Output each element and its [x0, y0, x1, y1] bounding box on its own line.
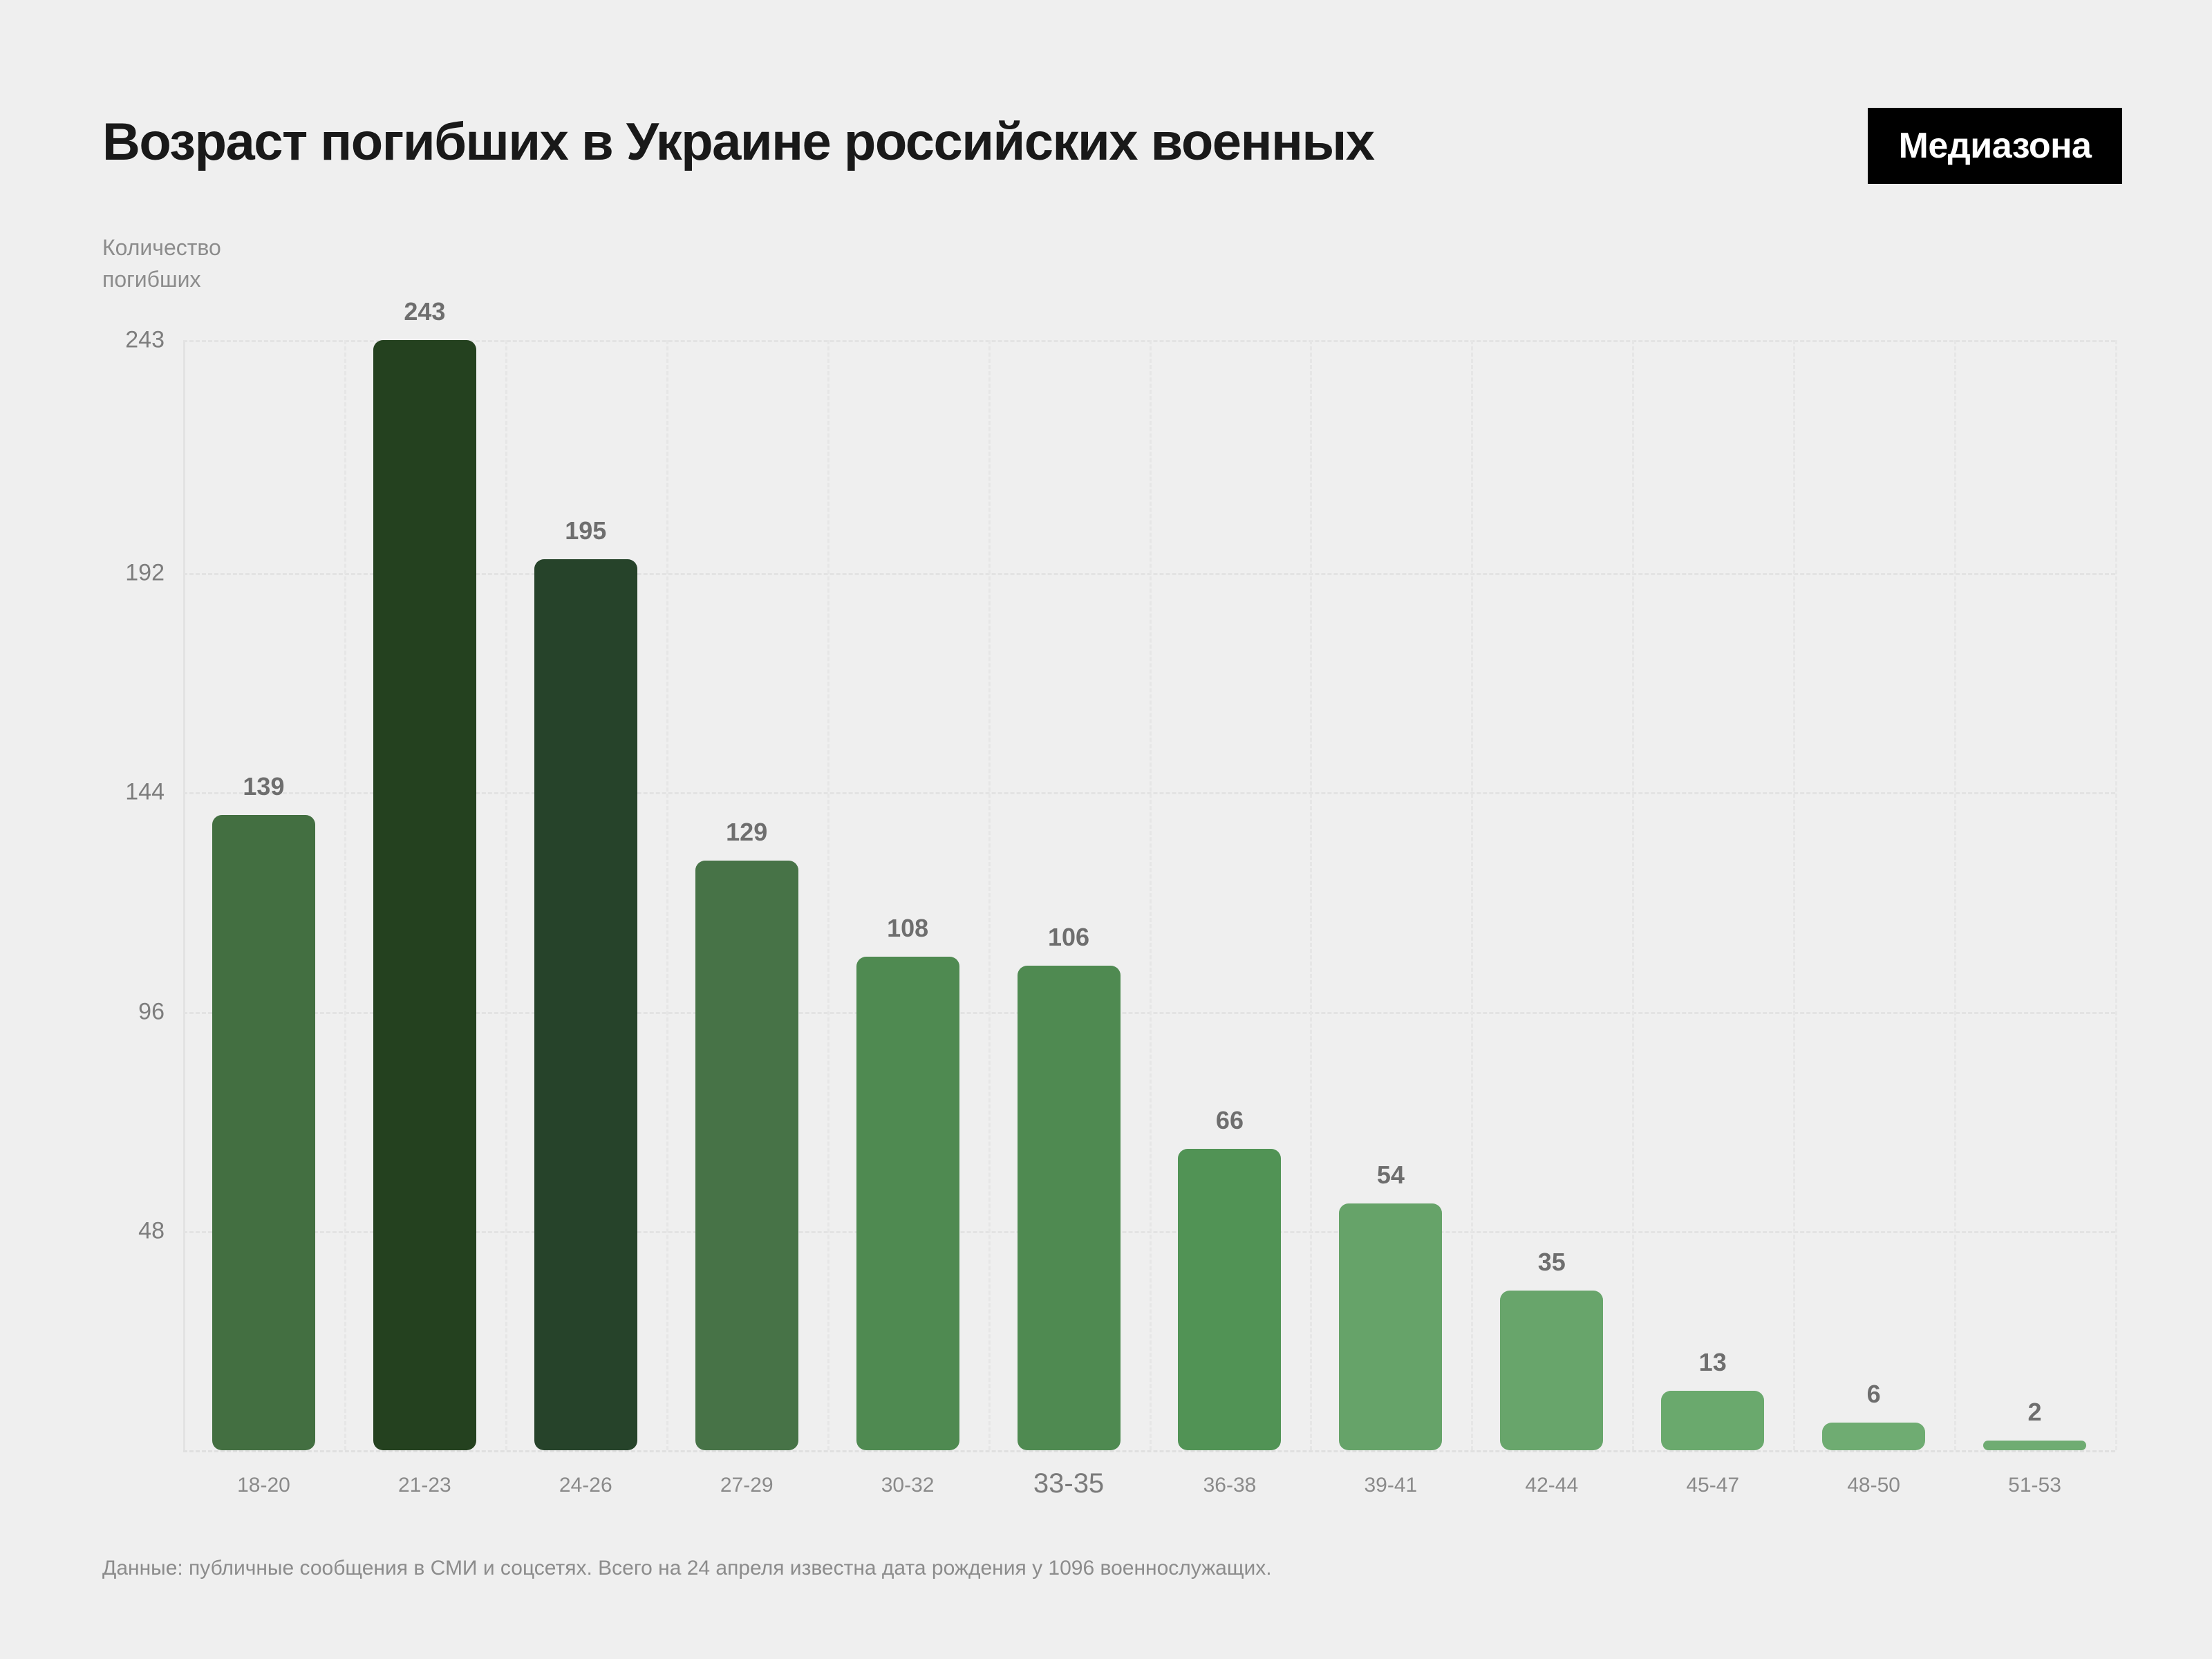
bar-group[interactable]: 66: [1178, 340, 1281, 1450]
bar-group[interactable]: 2: [1983, 340, 2086, 1450]
x-axis-category-label[interactable]: 24-26: [505, 1474, 666, 1497]
y-axis-ticks: 2431921449648: [0, 0, 165, 1659]
y-axis-line: [183, 340, 185, 1450]
bar-group[interactable]: 6: [1822, 340, 1925, 1450]
bar[interactable]: [1983, 1441, 2086, 1450]
bar[interactable]: [856, 957, 959, 1450]
x-axis-category-label[interactable]: 51-53: [1954, 1474, 2115, 1497]
bar[interactable]: [1018, 966, 1121, 1450]
bar-chart-plot: 2431921449648 13924319512910810666543513…: [0, 0, 2212, 1659]
x-axis-baseline: [183, 1450, 2115, 1452]
y-axis-tick-label: 96: [26, 998, 165, 1025]
bar[interactable]: [373, 340, 476, 1450]
bar[interactable]: [695, 861, 798, 1450]
y-axis-tick-label: 192: [26, 560, 165, 587]
bar[interactable]: [1178, 1149, 1281, 1450]
bar-group[interactable]: 106: [1018, 340, 1121, 1450]
x-axis-category-label[interactable]: 39-41: [1310, 1474, 1471, 1497]
bar-value-label: 139: [212, 772, 315, 801]
bar-value-label: 13: [1661, 1348, 1764, 1377]
x-axis-category-label[interactable]: 18-20: [183, 1474, 344, 1497]
vertical-gridline: [1954, 340, 1956, 1450]
vertical-gridline: [666, 340, 668, 1450]
chart-page: Возраст погибших в Украине российских во…: [0, 0, 2212, 1659]
bar-group[interactable]: 195: [534, 340, 637, 1450]
bar-value-label: 66: [1178, 1106, 1281, 1135]
x-axis-category-label[interactable]: 21-23: [344, 1474, 505, 1497]
source-note: Данные: публичные сообщения в СМИ и соцс…: [102, 1557, 1272, 1580]
x-axis-category-label[interactable]: 45-47: [1632, 1474, 1793, 1497]
bar-group[interactable]: 108: [856, 340, 959, 1450]
bar-group[interactable]: 139: [212, 340, 315, 1450]
bar[interactable]: [1500, 1291, 1603, 1450]
vertical-gridline: [505, 340, 507, 1450]
bar-value-label: 108: [856, 914, 959, 943]
bar[interactable]: [212, 815, 315, 1450]
bar-value-label: 106: [1018, 923, 1121, 952]
y-axis-tick-label: 144: [26, 779, 165, 806]
vertical-gridline: [1310, 340, 1312, 1450]
x-axis-category-label[interactable]: 48-50: [1793, 1474, 1954, 1497]
x-axis-category-label[interactable]: 33-35: [988, 1468, 1150, 1499]
bar-value-label: 35: [1500, 1248, 1603, 1277]
bar-group[interactable]: 35: [1500, 340, 1603, 1450]
bar-value-label: 2: [1983, 1398, 2086, 1427]
y-axis-tick-label: 48: [26, 1217, 165, 1244]
bar-group[interactable]: 54: [1339, 340, 1442, 1450]
x-axis-category-label[interactable]: 30-32: [827, 1474, 988, 1497]
vertical-gridline: [1471, 340, 1473, 1450]
x-axis-category-label[interactable]: 27-29: [666, 1474, 827, 1497]
bar-value-label: 54: [1339, 1161, 1442, 1190]
vertical-gridline: [1632, 340, 1634, 1450]
vertical-gridline: [1150, 340, 1152, 1450]
vertical-gridline: [827, 340, 829, 1450]
bar-value-label: 6: [1822, 1380, 1925, 1409]
vertical-gridline: [1793, 340, 1795, 1450]
vertical-gridline: [2115, 340, 2117, 1450]
bar[interactable]: [1661, 1391, 1764, 1450]
bar-group[interactable]: 13: [1661, 340, 1764, 1450]
x-axis-category-label[interactable]: 36-38: [1150, 1474, 1311, 1497]
y-axis-tick-label: 243: [26, 327, 165, 354]
x-axis-category-label[interactable]: 42-44: [1471, 1474, 1632, 1497]
bar-value-label: 129: [695, 818, 798, 847]
bar[interactable]: [1822, 1423, 1925, 1450]
bar-value-label: 243: [373, 297, 476, 326]
bar[interactable]: [1339, 1203, 1442, 1450]
bar-group[interactable]: 243: [373, 340, 476, 1450]
vertical-gridline: [344, 340, 346, 1450]
bar-value-label: 195: [534, 516, 637, 545]
bar-group[interactable]: 129: [695, 340, 798, 1450]
bar[interactable]: [534, 559, 637, 1450]
vertical-gridline: [988, 340, 991, 1450]
